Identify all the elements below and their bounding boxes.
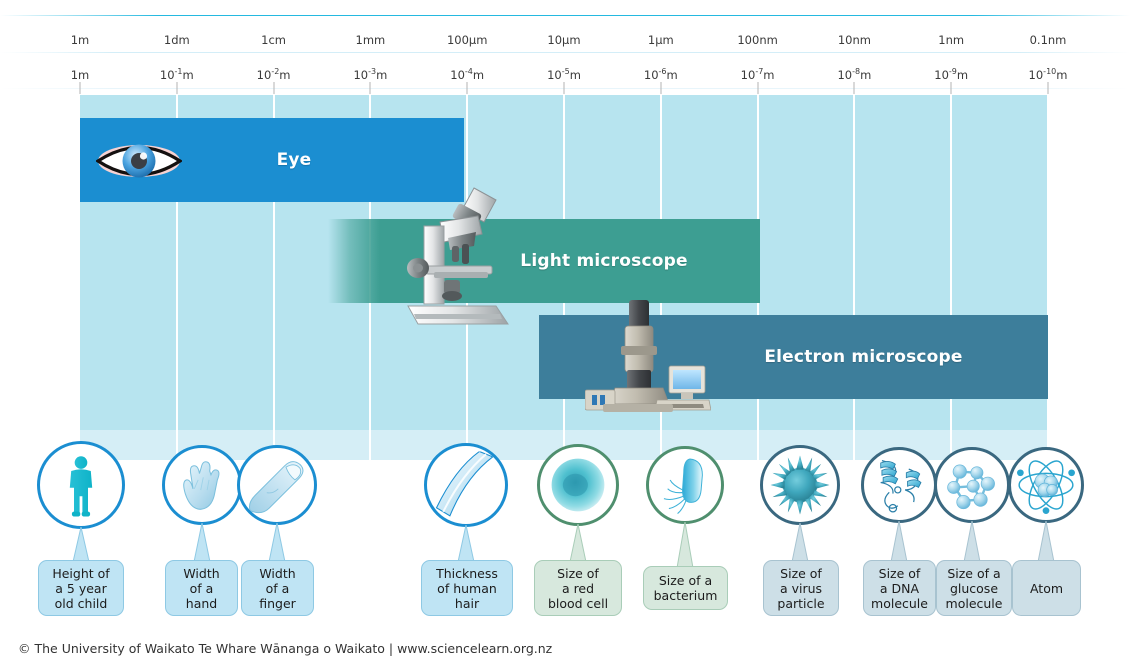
specimen-circle-red_blood_cell[interactable] (537, 444, 619, 526)
panel-gridline (853, 430, 855, 460)
scale-tick (951, 82, 952, 94)
specimen-circle-glucose[interactable] (934, 447, 1010, 523)
scale-unit-label: 1mm (356, 33, 386, 47)
hand-icon (170, 453, 234, 517)
scale-power-label: 10-9m (934, 68, 968, 82)
specimen-connector-glucose (963, 521, 981, 562)
specimen-label-text: Size of a red blood cell (548, 566, 608, 611)
scale-tick (660, 82, 661, 94)
scale-unit-label: 0.1nm (1030, 33, 1067, 47)
scale-power-label: 10-7m (741, 68, 775, 82)
bacterium-icon (654, 454, 716, 516)
scale-unit-label: 1µm (648, 33, 674, 47)
specimen-connector-red_blood_cell (569, 524, 587, 562)
instrument-bar-light-microscope[interactable]: Light microscope (328, 219, 760, 303)
scale-power-label: 10-5m (547, 68, 581, 82)
specimen-label-red_blood_cell[interactable]: Size of a red blood cell (534, 560, 622, 616)
specimen-connector-hair (457, 525, 475, 562)
specimen-label-text: Size of a glucose molecule (946, 566, 1003, 611)
specimen-label-atom[interactable]: Atom (1012, 560, 1081, 616)
scale-unit-label: 100µm (447, 33, 487, 47)
specimen-label-text: Atom (1030, 581, 1063, 596)
scale-power-label: 10-6m (644, 68, 678, 82)
specimen-circle-atom[interactable] (1008, 447, 1084, 523)
copyright-credit: © The University of Waikato Te Whare Wān… (18, 641, 552, 656)
atom-icon (1016, 455, 1077, 516)
specimen-connector-bacterium (676, 522, 694, 568)
glucose-molecule-icon (942, 455, 1003, 516)
specimen-label-text: Size of a DNA molecule (871, 566, 928, 611)
specimen-circle-hair[interactable] (424, 443, 508, 527)
specimen-label-hand[interactable]: Width of a hand (165, 560, 238, 616)
scale-tick (80, 82, 81, 94)
red-blood-cell-icon (545, 452, 611, 518)
hair-icon (433, 452, 500, 519)
header-rule-bottom (0, 88, 1130, 89)
header-rule-top (0, 15, 1130, 16)
scale-power-label: 10-3m (353, 68, 387, 82)
scale-power-label: 10-1m (160, 68, 194, 82)
virus-icon (768, 453, 832, 517)
scale-unit-label: 1dm (164, 33, 190, 47)
specimen-circle-hand[interactable] (162, 445, 242, 525)
specimen-circle-child[interactable] (37, 441, 125, 529)
scale-power-label: 10-10m (1029, 68, 1068, 82)
specimen-label-text: Height of a 5 year old child (52, 566, 109, 611)
specimen-connector-child (72, 527, 90, 562)
specimen-circle-finger[interactable] (237, 445, 317, 525)
electron-microscope-icon (585, 300, 711, 418)
specimen-connector-atom (1037, 521, 1055, 562)
scale-tick (467, 82, 468, 94)
specimen-label-dna[interactable]: Size of a DNA molecule (863, 560, 936, 616)
specimen-label-text: Size of a virus particle (777, 566, 824, 611)
specimen-label-glucose[interactable]: Size of a glucose molecule (936, 560, 1012, 616)
scale-tick (273, 82, 274, 94)
scale-unit-label: 10µm (547, 33, 580, 47)
specimen-circle-dna[interactable] (861, 447, 937, 523)
scale-unit-label: 1nm (938, 33, 964, 47)
scale-tick (370, 82, 371, 94)
scale-unit-label: 1m (71, 33, 90, 47)
scale-unit-label: 100nm (737, 33, 777, 47)
specimen-label-child[interactable]: Height of a 5 year old child (38, 560, 124, 616)
scale-tick (854, 82, 855, 94)
specimen-label-bacterium[interactable]: Size of a bacterium (643, 566, 728, 610)
panel-gridline (757, 430, 759, 460)
specimen-connector-finger (268, 523, 286, 562)
specimen-circle-bacterium[interactable] (646, 446, 724, 524)
specimen-label-text: Width of a hand (183, 566, 219, 611)
specimen-label-hair[interactable]: Thickness of human hair (421, 560, 513, 616)
dna-molecule-icon (869, 455, 930, 516)
instrument-bar-electron-microscope-label: Electron microscope (679, 347, 1048, 367)
child-icon (46, 450, 116, 520)
specimen-connector-hand (193, 523, 211, 562)
scale-power-label: 10-8m (837, 68, 871, 82)
scale-unit-label: 1cm (261, 33, 286, 47)
panel-gridline (369, 430, 371, 460)
scale-power-label: 1m (71, 68, 90, 82)
scale-tick (176, 82, 177, 94)
scale-unit-label: 10nm (838, 33, 871, 47)
scale-power-label: 10-4m (450, 68, 484, 82)
light-microscope-icon (400, 186, 516, 326)
finger-icon (245, 453, 309, 517)
specimen-circle-virus[interactable] (760, 445, 840, 525)
specimen-label-text: Size of a bacterium (654, 573, 718, 603)
specimen-label-text: Thickness of human hair (436, 566, 498, 611)
header-rule-middle (0, 52, 1130, 53)
scale-tick (757, 82, 758, 94)
eye-icon (96, 136, 182, 186)
scale-tick (564, 82, 565, 94)
scale-tick (1048, 82, 1049, 94)
specimen-label-virus[interactable]: Size of a virus particle (763, 560, 839, 616)
scale-diagram: 1m1dm1cm1mm100µm10µm1µm100nm10nm1nm0.1nm… (0, 0, 1130, 667)
specimen-connector-virus (791, 523, 809, 562)
specimen-connector-dna (890, 521, 908, 562)
specimen-label-text: Width of a finger (259, 566, 296, 611)
scale-power-label: 10-2m (257, 68, 291, 82)
specimen-label-finger[interactable]: Width of a finger (241, 560, 314, 616)
